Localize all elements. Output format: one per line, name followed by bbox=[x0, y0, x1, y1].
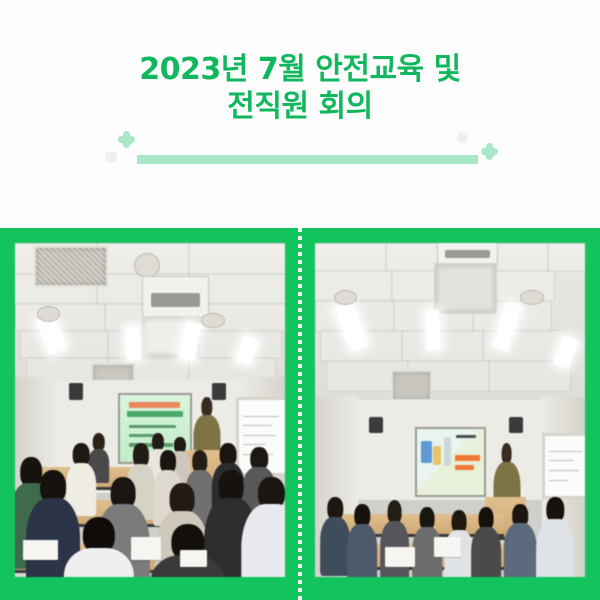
page-title: 2023년 7월 안전교육 및 전직원 회의 bbox=[0, 52, 600, 125]
attendee bbox=[472, 507, 502, 577]
decorative-dot-left bbox=[105, 151, 117, 163]
attendee bbox=[347, 504, 377, 577]
promo-card: 2023년 7월 안전교육 및 전직원 회의 bbox=[0, 0, 600, 600]
ceiling-ac-vent bbox=[34, 246, 108, 287]
ceiling-light bbox=[125, 326, 141, 360]
ceiling-recess bbox=[434, 263, 497, 314]
photo-right bbox=[315, 243, 585, 577]
ceiling-projector bbox=[437, 243, 498, 265]
ceiling-detector bbox=[520, 290, 544, 305]
clover-icon bbox=[118, 131, 135, 148]
ceiling-detector bbox=[37, 306, 61, 321]
attendee bbox=[504, 504, 536, 577]
clover-icon bbox=[481, 143, 498, 160]
attendee bbox=[536, 497, 574, 577]
wall-speaker bbox=[509, 417, 523, 434]
handout bbox=[180, 550, 207, 567]
ceiling-light bbox=[425, 309, 441, 350]
wall-speaker bbox=[69, 383, 83, 400]
title-underline-bar bbox=[137, 155, 478, 164]
ceiling-ac-unit bbox=[391, 370, 433, 401]
photo-left bbox=[15, 243, 285, 577]
wall-speaker bbox=[369, 417, 383, 434]
handout bbox=[23, 540, 58, 560]
title-line-2: 전직원 회의 bbox=[0, 89, 600, 126]
handout bbox=[131, 537, 161, 560]
decorative-dot-right bbox=[457, 132, 468, 143]
attendee bbox=[320, 497, 350, 570]
handout bbox=[385, 547, 415, 567]
attendee bbox=[64, 517, 134, 577]
whiteboard bbox=[542, 433, 585, 499]
attendee bbox=[242, 477, 285, 577]
handout bbox=[434, 537, 461, 557]
photo-divider bbox=[298, 228, 302, 600]
title-line-1: 2023년 7월 안전교육 및 bbox=[0, 52, 600, 89]
projection-screen bbox=[415, 427, 487, 498]
ceiling-projector bbox=[142, 276, 209, 318]
header-section: 2023년 7월 안전교육 및 전직원 회의 bbox=[0, 0, 600, 228]
